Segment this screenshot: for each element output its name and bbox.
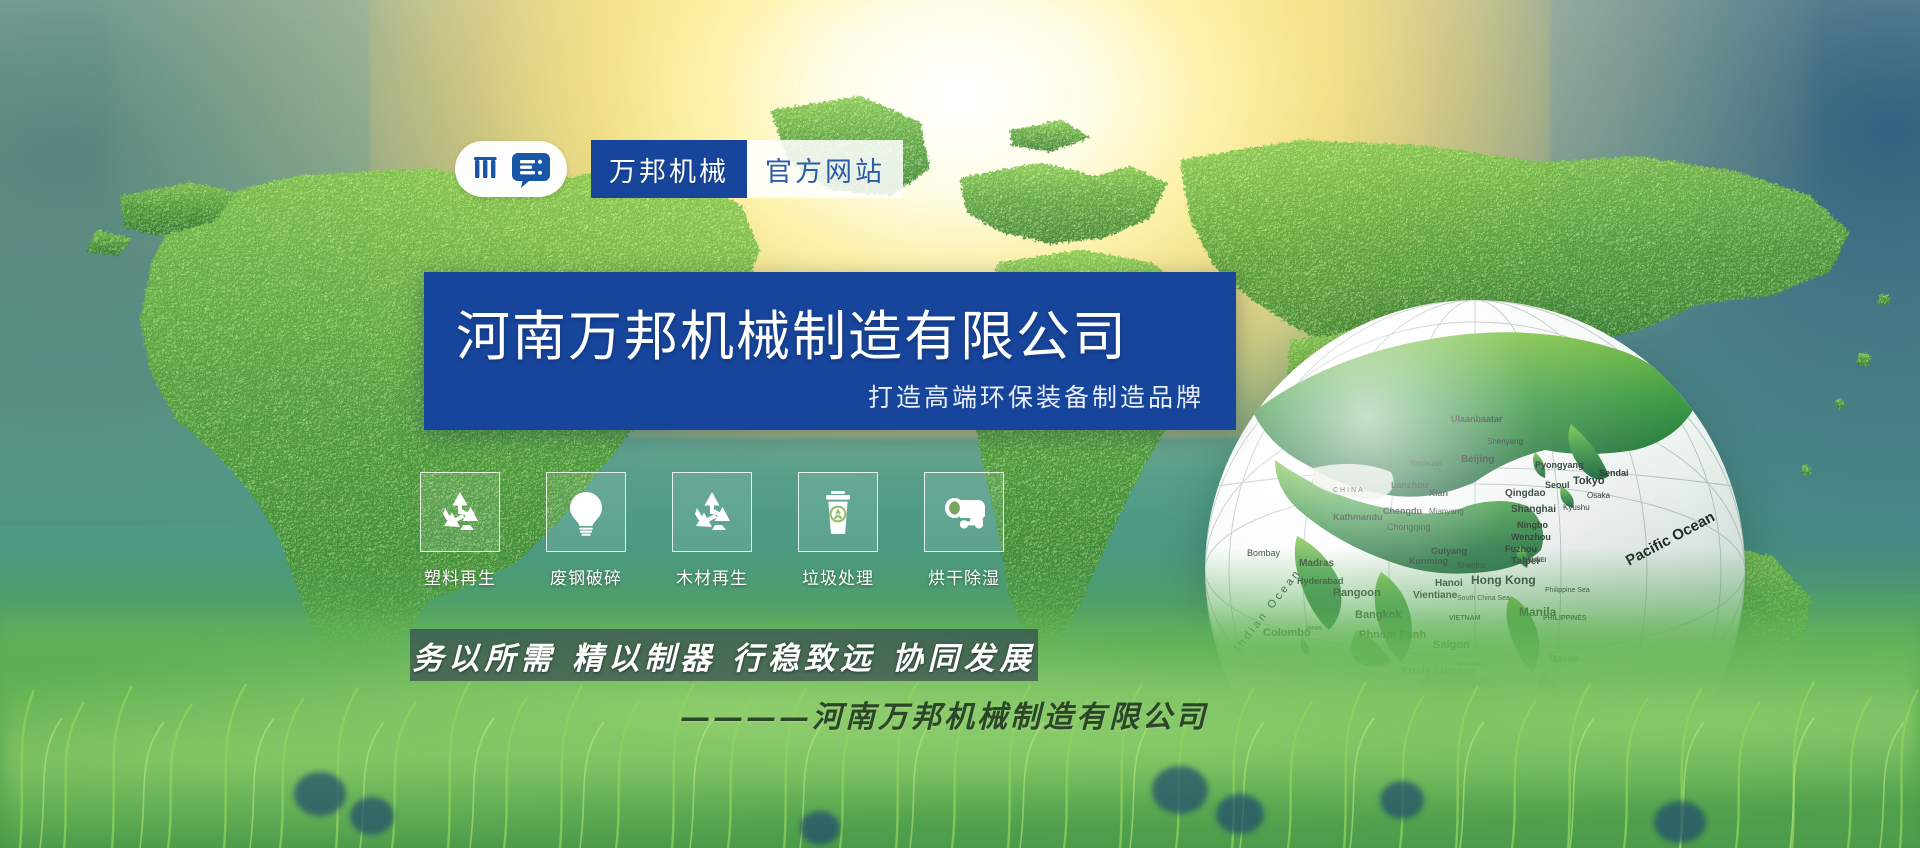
feature-label: 废钢破碎 [550, 564, 622, 589]
feature-icon-box [672, 472, 752, 552]
globe-city-yinchuan: Yinchuan [1409, 459, 1442, 468]
feature-item-drying-dehumidifying[interactable]: 烘干除湿 [922, 472, 1006, 589]
globe-city-kyushu: Kyushu [1563, 503, 1590, 512]
feature-icon-box [546, 472, 626, 552]
globe-city-xian: Xian [1429, 488, 1448, 498]
banner-stage: Pacific Ocean Indian Ocean South China S… [0, 0, 1920, 848]
logo-b-icon [511, 149, 551, 189]
feature-label: 木材再生 [676, 564, 748, 589]
lightbulb-icon [562, 488, 610, 536]
globe-city-shenyang: Shenyang [1487, 437, 1523, 446]
official-site-box[interactable]: 官方网站 [747, 140, 903, 198]
globe-city-beijing: Beijing [1461, 454, 1494, 465]
feature-icon-box [420, 472, 500, 552]
globe-city-sendai: Sendai [1599, 468, 1629, 478]
recycle-icon [688, 488, 736, 536]
feature-item-plastic-recycling[interactable]: 塑料再生 [418, 472, 502, 589]
feature-label: 烘干除湿 [928, 564, 1000, 589]
feature-item-scrap-steel-crushing[interactable]: 废钢破碎 [544, 472, 628, 589]
globe-city-qingdao: Qingdao [1505, 488, 1546, 499]
brand-name-box[interactable]: 万邦机械 [591, 140, 747, 198]
feature-list: 塑料再生 废钢破碎 [418, 472, 1006, 589]
feature-icon-box [924, 472, 1004, 552]
dryer-icon [940, 488, 988, 536]
globe-city-lanzhou: Lanzhou [1391, 480, 1428, 490]
globe-city-pyongyang: Pyongyang [1535, 460, 1584, 470]
slogan-bar: 务以所需 精以制器 行稳致远 协同发展 [410, 629, 1038, 681]
trash-bin-icon [814, 488, 862, 536]
globe-label-china: CHINA [1333, 487, 1365, 494]
feature-item-wood-recycling[interactable]: 木材再生 [670, 472, 754, 589]
header-title-group: 万邦机械 官方网站 [591, 140, 903, 198]
hero-subtitle: 打造高端环保装备制造品牌 [868, 378, 1204, 414]
slogan-text: 务以所需 精以制器 行稳致远 协同发展 [412, 633, 1035, 678]
page-title: 河南万邦机械制造有限公司 [456, 292, 1128, 371]
logo[interactable] [455, 141, 567, 197]
site-header: 万邦机械 官方网站 [455, 140, 903, 198]
feature-icon-box [798, 472, 878, 552]
globe-city-shanghai: Shanghai [1511, 504, 1556, 515]
feature-label: 垃圾处理 [802, 564, 874, 589]
globe-city-kathmandu: Kathmandu [1333, 512, 1383, 522]
slogan-signature: ————河南万邦机械制造有限公司 [680, 692, 1208, 736]
globe-city-ningbo: Ningbo [1517, 520, 1548, 530]
globe-city-chengdu: Chengdu [1383, 506, 1422, 516]
globe-city-seoul: Seoul [1545, 480, 1570, 490]
feature-label: 塑料再生 [424, 564, 496, 589]
globe-city-osaka: Osaka [1587, 491, 1611, 500]
hero-banner: 河南万邦机械制造有限公司 打造高端环保装备制造品牌 [424, 272, 1236, 430]
feature-item-waste-treatment[interactable]: 垃圾处理 [796, 472, 880, 589]
recycle-icon [436, 488, 484, 536]
globe-city-mianyang: Mianyang [1429, 507, 1464, 516]
brand-name-label: 万邦机械 [609, 150, 729, 189]
globe-city-ulaanbaatar: Ulaanbaatar [1451, 414, 1503, 424]
logo-w-icon [471, 152, 505, 186]
official-site-label: 官方网站 [765, 150, 885, 189]
globe-city-chongqing: Chongqing [1387, 522, 1431, 532]
globe-city-wenzhou: Wenzhou [1511, 532, 1551, 542]
